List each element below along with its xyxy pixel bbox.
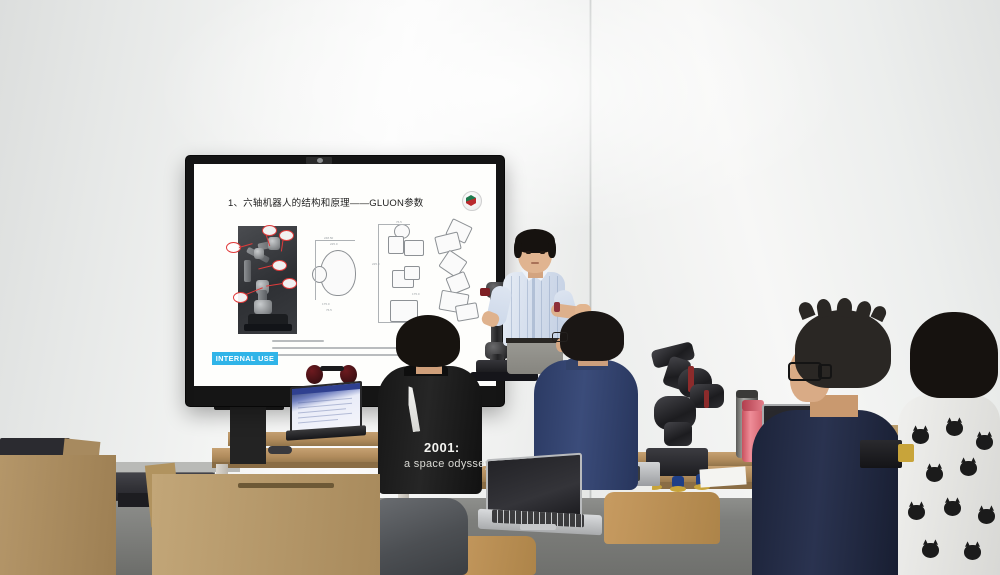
black-device-box — [860, 440, 902, 468]
paper-sheet — [699, 466, 746, 487]
presenter-eye-left — [526, 251, 531, 254]
attendee-masked-woman-hair — [910, 312, 998, 398]
slide-title: 1、六轴机器人的结构和原理——GLUON参数 — [228, 195, 458, 209]
attendee-masked-woman-body — [898, 395, 1000, 575]
robot-arm-suction — [648, 344, 740, 462]
callout-marker — [282, 278, 297, 289]
cardboard-box-front — [152, 474, 380, 575]
laptop-center-trackpad[interactable] — [520, 524, 556, 530]
headphones — [306, 362, 358, 384]
glasses-lens-right-icon — [818, 364, 832, 379]
tshirt-text-line1: 2001: — [424, 440, 470, 454]
display-stand-column — [230, 406, 266, 464]
attendee-black-tshirt-body — [378, 366, 482, 494]
attendee-glasses-body — [752, 410, 902, 575]
presenter-eye-right — [540, 251, 545, 254]
glasses-icon — [552, 332, 568, 342]
callout-marker — [279, 230, 294, 241]
presenter-bracelet — [554, 302, 560, 312]
yellow-box — [898, 444, 914, 462]
thermos-cap — [736, 390, 758, 398]
attendee-black-tshirt-hair — [396, 315, 460, 367]
keyboard-small — [268, 446, 292, 454]
jacket-on-chair — [372, 498, 468, 575]
presenter-hair-side-left — [514, 240, 522, 258]
presenter-mouth — [531, 262, 539, 264]
internal-use-badge: INTERNAL USE — [212, 352, 278, 365]
attendee-navy-polo-hair — [560, 311, 624, 361]
water-bottle-cap — [742, 400, 764, 411]
cardboard-box-left — [0, 455, 116, 575]
callout-marker — [262, 225, 277, 236]
glasses-icon — [788, 362, 822, 381]
cad-drawing-front-view: 248.50 225.0 175.0 76.5 — [312, 236, 370, 328]
classroom-photo-scene: 1、六轴机器人的结构和原理——GLUON参数 — [0, 0, 1000, 575]
presenter-hair-side-right — [548, 240, 556, 258]
webcam-lens-icon — [317, 158, 323, 163]
presenter-shirt-placket — [532, 278, 535, 340]
cardboard-box-handle — [238, 483, 334, 488]
cad-drawing-isometric — [426, 220, 484, 328]
chair-center — [604, 492, 720, 544]
callout-marker — [272, 260, 287, 271]
